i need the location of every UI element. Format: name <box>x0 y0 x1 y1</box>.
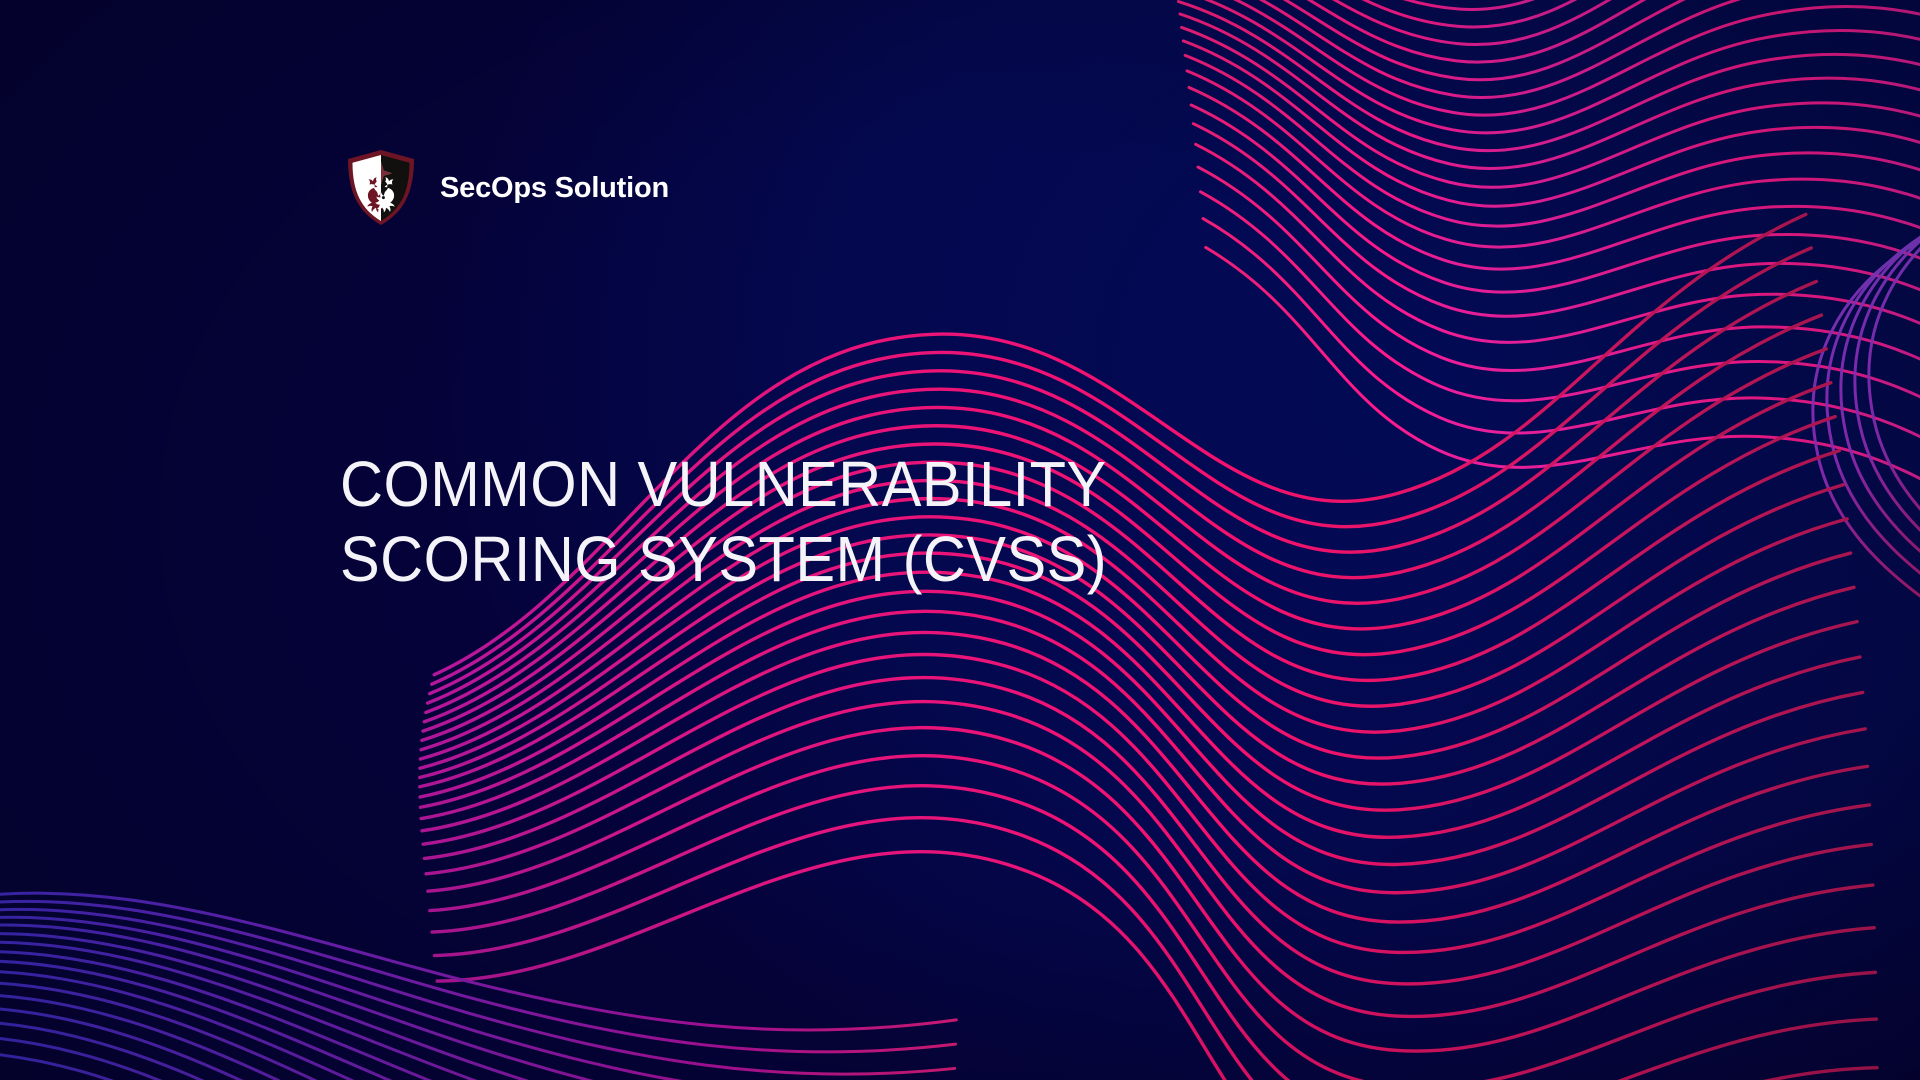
brand-lockup: SecOps Solution <box>344 148 669 228</box>
shield-lions-icon <box>344 148 418 228</box>
brand-name: SecOps Solution <box>440 172 669 205</box>
title-slide: SecOps Solution COMMON VULNERABILITY SCO… <box>0 0 1920 1080</box>
page-title-line-1: COMMON VULNERABILITY <box>340 447 1107 522</box>
page-title-line-2: SCORING SYSTEM (CVSS) <box>340 522 1107 597</box>
page-title: COMMON VULNERABILITY SCORING SYSTEM (CVS… <box>340 447 1107 597</box>
